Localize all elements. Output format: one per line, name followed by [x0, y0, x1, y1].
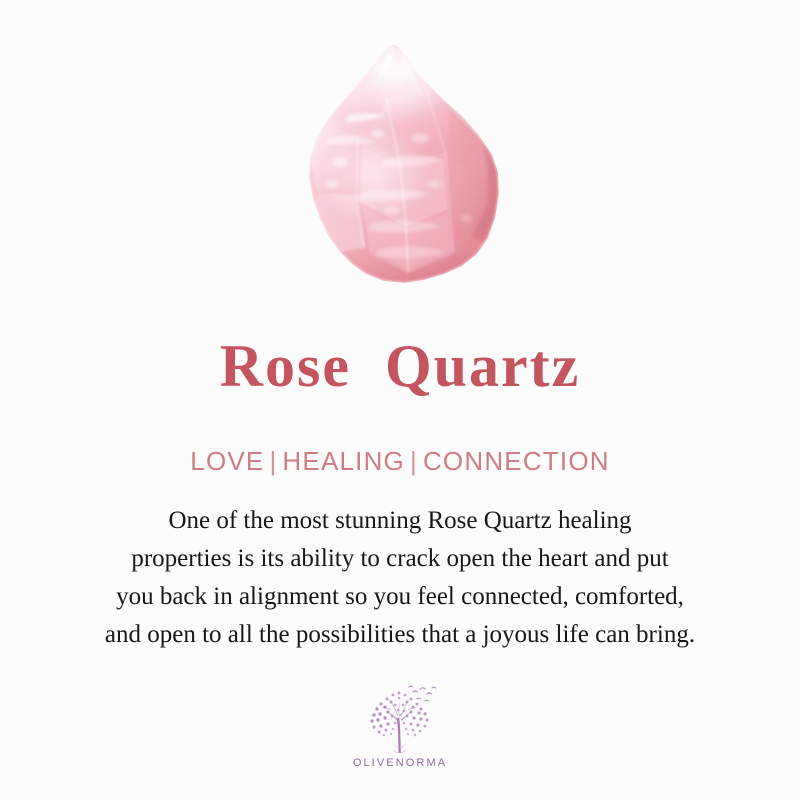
description-paragraph: One of the most stunning Rose Quartz hea… [30, 502, 770, 654]
rose-quartz-infographic-card: Rose Quartz LOVE|HEALING|CONNECTION One … [0, 0, 800, 800]
page-title: Rose Quartz [0, 333, 800, 399]
hero-image-area [0, 28, 800, 300]
separator-2: | [405, 446, 423, 476]
description-line-2: properties is its ability to crack open … [30, 540, 770, 578]
description-line-4: and open to all the possibilities that a… [30, 616, 770, 654]
description-line-3: you back in alignment so you feel connec… [30, 578, 770, 616]
keyword-healing: HEALING [282, 446, 405, 476]
separator-1: | [264, 446, 282, 476]
tree-of-life-icon [357, 683, 443, 755]
brand-name: OLIVENORMA [0, 757, 800, 769]
brand-logo: OLIVENORMA [0, 683, 800, 769]
rose-quartz-crystal-image [296, 42, 508, 290]
keyword-love: LOVE [190, 446, 264, 476]
keyword-connection: CONNECTION [423, 446, 610, 476]
keyword-tagline: LOVE|HEALING|CONNECTION [0, 445, 800, 477]
rose-quartz-crystal-svg [296, 42, 508, 290]
description-line-1: One of the most stunning Rose Quartz hea… [30, 502, 770, 540]
